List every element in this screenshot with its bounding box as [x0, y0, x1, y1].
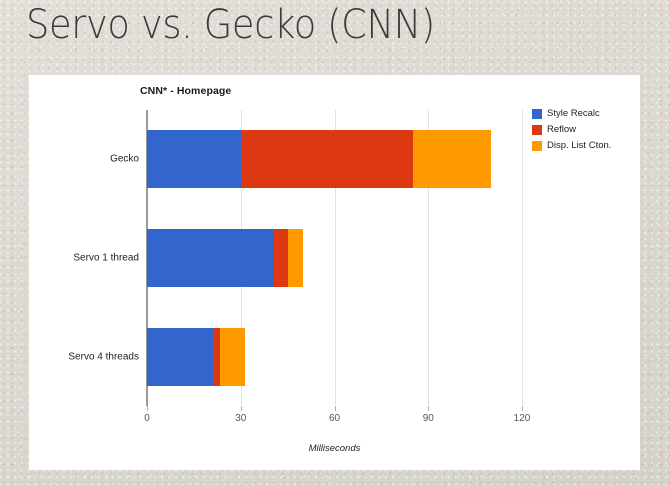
legend-item[interactable]: Reflow — [532, 123, 611, 136]
chart-title: CNN* - Homepage — [140, 85, 231, 97]
chart-legend: Style RecalcReflowDisp. List Cton. — [532, 107, 611, 155]
x-tick-mark — [335, 406, 336, 411]
bar-segment[interactable] — [274, 229, 288, 287]
bar-segment[interactable] — [220, 328, 245, 386]
category-label: Gecko — [110, 154, 139, 165]
legend-label: Disp. List Cton. — [547, 140, 611, 151]
x-tick-label: 0 — [144, 413, 150, 424]
category-label: Servo 4 threads — [68, 352, 139, 363]
legend-item[interactable]: Style Recalc — [532, 107, 611, 120]
x-tick-label: 60 — [329, 413, 340, 424]
legend-swatch-icon — [532, 109, 542, 119]
plot-area: GeckoServo 1 threadServo 4 threads — [147, 110, 522, 405]
legend-swatch-icon — [532, 141, 542, 151]
legend-item[interactable]: Disp. List Cton. — [532, 139, 611, 152]
chart-panel: CNN* - Homepage GeckoServo 1 threadServo… — [29, 75, 640, 470]
x-tick-mark — [241, 406, 242, 411]
bar-row: Servo 4 threads — [147, 328, 245, 386]
bar-segment[interactable] — [413, 130, 491, 188]
x-tick-label: 120 — [514, 413, 531, 424]
x-tick-mark — [147, 406, 148, 411]
bar-segment[interactable] — [147, 328, 213, 386]
bar-segment[interactable] — [147, 229, 274, 287]
x-tick-label: 90 — [423, 413, 434, 424]
x-tick-mark — [428, 406, 429, 411]
legend-swatch-icon — [532, 125, 542, 135]
bar-segment[interactable] — [147, 130, 241, 188]
bar-segment[interactable] — [213, 328, 220, 386]
x-tick-label: 30 — [235, 413, 246, 424]
bar-segment[interactable] — [241, 130, 413, 188]
x-tick-mark — [522, 406, 523, 411]
bar-segment[interactable] — [288, 229, 303, 287]
bar-row: Gecko — [147, 130, 491, 188]
category-label: Servo 1 thread — [73, 253, 139, 264]
bar-row: Servo 1 thread — [147, 229, 303, 287]
gridline — [522, 110, 523, 405]
legend-label: Style Recalc — [547, 108, 600, 119]
legend-label: Reflow — [547, 124, 576, 135]
x-axis-title: Milliseconds — [29, 443, 640, 454]
page-title: Servo vs. Gecko (CNN) — [26, 2, 435, 48]
